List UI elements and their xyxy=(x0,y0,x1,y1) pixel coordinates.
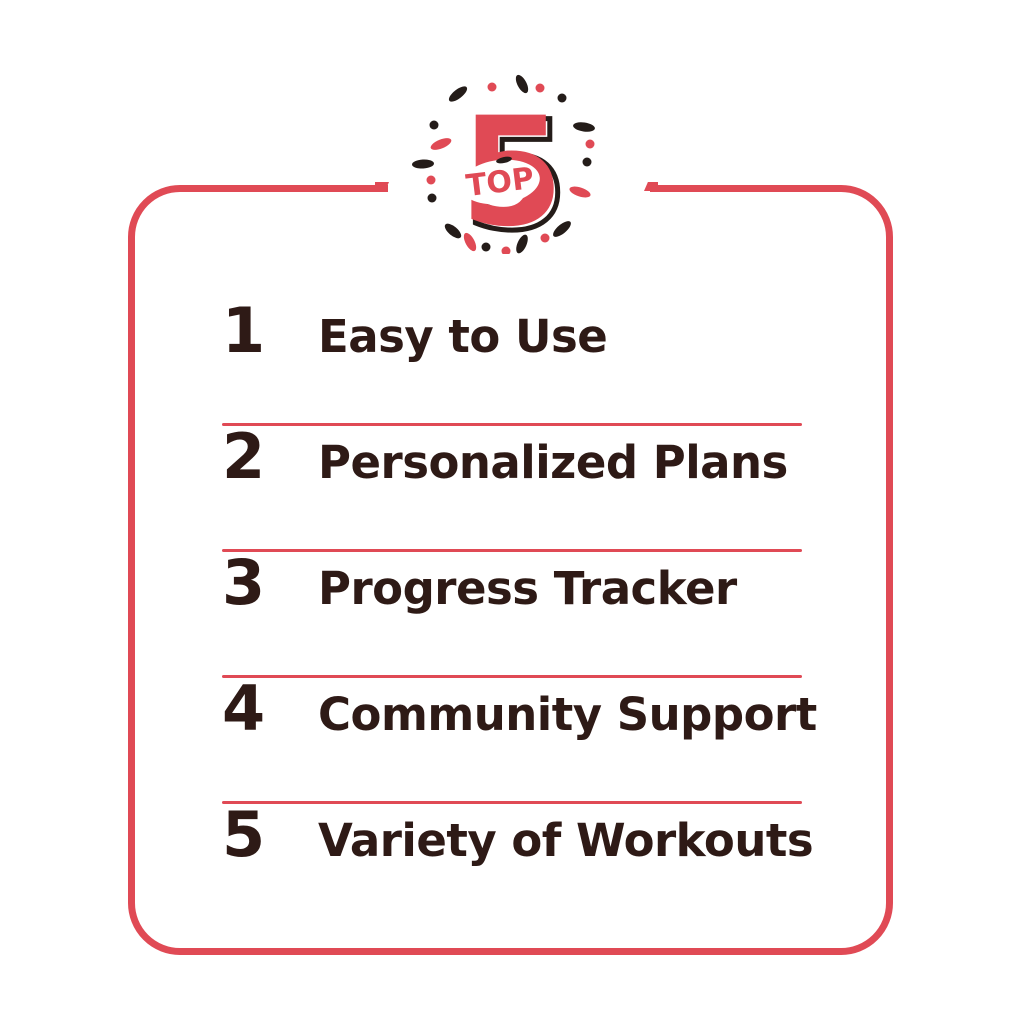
list-item[interactable]: 4 Community Support xyxy=(222,678,802,804)
list-item-label: Community Support xyxy=(318,692,817,737)
list-item-number: 5 xyxy=(222,804,318,866)
poster-canvas: 5 5 TOP 1 Easy to Use 2 Personalized Pla… xyxy=(0,0,1024,1024)
list-item-label: Progress Tracker xyxy=(318,566,737,611)
feature-list: 1 Easy to Use 2 Personalized Plans 3 Pro… xyxy=(222,300,802,914)
list-item-number: 3 xyxy=(222,552,318,614)
list-item-label: Personalized Plans xyxy=(318,440,788,485)
list-item[interactable]: 5 Variety of Workouts xyxy=(222,804,802,914)
list-item[interactable]: 2 Personalized Plans xyxy=(222,426,802,552)
list-item[interactable]: 3 Progress Tracker xyxy=(222,552,802,678)
list-item-number: 4 xyxy=(222,678,318,740)
list-item-label: Variety of Workouts xyxy=(318,818,813,863)
top-five-badge: 5 5 TOP xyxy=(412,72,612,254)
list-item-label: Easy to Use xyxy=(318,314,607,359)
list-item-number: 1 xyxy=(222,300,318,362)
list-item[interactable]: 1 Easy to Use xyxy=(222,300,802,426)
list-item-number: 2 xyxy=(222,426,318,488)
